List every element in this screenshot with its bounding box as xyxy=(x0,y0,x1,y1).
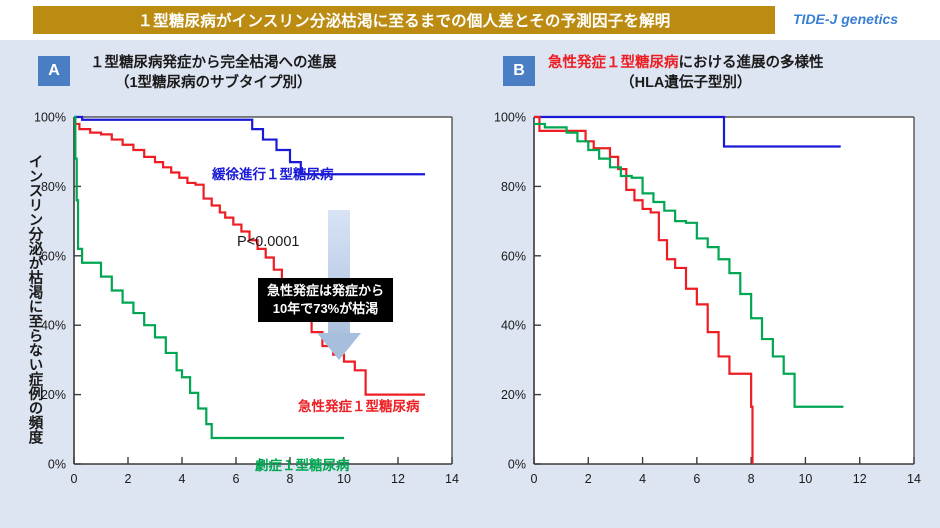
page-title: １型糖尿病がインスリン分泌枯渇に至るまでの個人差とその予測因子を解明 xyxy=(137,9,670,31)
svg-text:0%: 0% xyxy=(508,458,526,472)
svg-text:20%: 20% xyxy=(41,388,66,402)
svg-text:60%: 60% xyxy=(501,249,526,263)
panel-a-pvalue: P<0.0001 xyxy=(237,234,300,250)
panel-a-annotation-line1: 急性発症は発症から xyxy=(267,282,384,300)
svg-text:100%: 100% xyxy=(494,111,526,125)
svg-text:0: 0 xyxy=(71,472,78,486)
panel-a-curve-label-blue: 緩徐進行１型糖尿病 xyxy=(212,163,334,183)
svg-text:80%: 80% xyxy=(41,180,66,194)
panel-a-annotation-line2: 10年で73%が枯渇 xyxy=(267,300,384,318)
panel-a-annotation: 急性発症は発症から 10年で73%が枯渇 xyxy=(258,278,393,322)
svg-text:80%: 80% xyxy=(501,180,526,194)
figure-root: １型糖尿病がインスリン分泌枯渇に至るまでの個人差とその予測因子を解明 TIDE-… xyxy=(0,0,940,528)
panel-a-curve-label-red: 急性発症１型糖尿病 xyxy=(298,395,420,415)
svg-text:10: 10 xyxy=(798,472,812,486)
svg-text:10: 10 xyxy=(337,472,351,486)
svg-text:2: 2 xyxy=(585,472,592,486)
svg-text:20%: 20% xyxy=(501,388,526,402)
svg-text:14: 14 xyxy=(445,472,459,486)
svg-text:60%: 60% xyxy=(41,249,66,263)
panel-a-plot: 024681012140%20%40%60%80%100% xyxy=(0,42,466,528)
header-title-bar: １型糖尿病がインスリン分泌枯渇に至るまでの個人差とその予測因子を解明 xyxy=(33,6,775,34)
panel-a-curve-label-green: 劇症１型糖尿病 xyxy=(255,454,350,474)
panel-b: B 急性発症１型糖尿病における進展の多様性 （HLA遺伝子型別） 発症からの期間… xyxy=(466,42,940,528)
svg-text:12: 12 xyxy=(853,472,867,486)
panel-a: A １型糖尿病発症から完全枯渇への進展 （1型糖尿病のサブタイプ別） インスリン… xyxy=(0,42,466,528)
svg-text:0%: 0% xyxy=(48,458,66,472)
header-strip: １型糖尿病がインスリン分泌枯渇に至るまでの個人差とその予測因子を解明 TIDE-… xyxy=(0,0,940,40)
svg-text:14: 14 xyxy=(907,472,921,486)
svg-text:40%: 40% xyxy=(501,319,526,333)
svg-text:0: 0 xyxy=(531,472,538,486)
svg-text:12: 12 xyxy=(391,472,405,486)
svg-text:4: 4 xyxy=(179,472,186,486)
svg-text:100%: 100% xyxy=(34,111,66,125)
svg-text:6: 6 xyxy=(233,472,240,486)
svg-text:8: 8 xyxy=(287,472,294,486)
svg-text:40%: 40% xyxy=(41,319,66,333)
svg-text:8: 8 xyxy=(748,472,755,486)
svg-text:4: 4 xyxy=(639,472,646,486)
svg-text:6: 6 xyxy=(693,472,700,486)
brand-logo: TIDE-J genetics xyxy=(793,11,898,27)
svg-text:2: 2 xyxy=(125,472,132,486)
panel-b-plot: 024681012140%20%40%60%80%100% xyxy=(466,42,940,528)
